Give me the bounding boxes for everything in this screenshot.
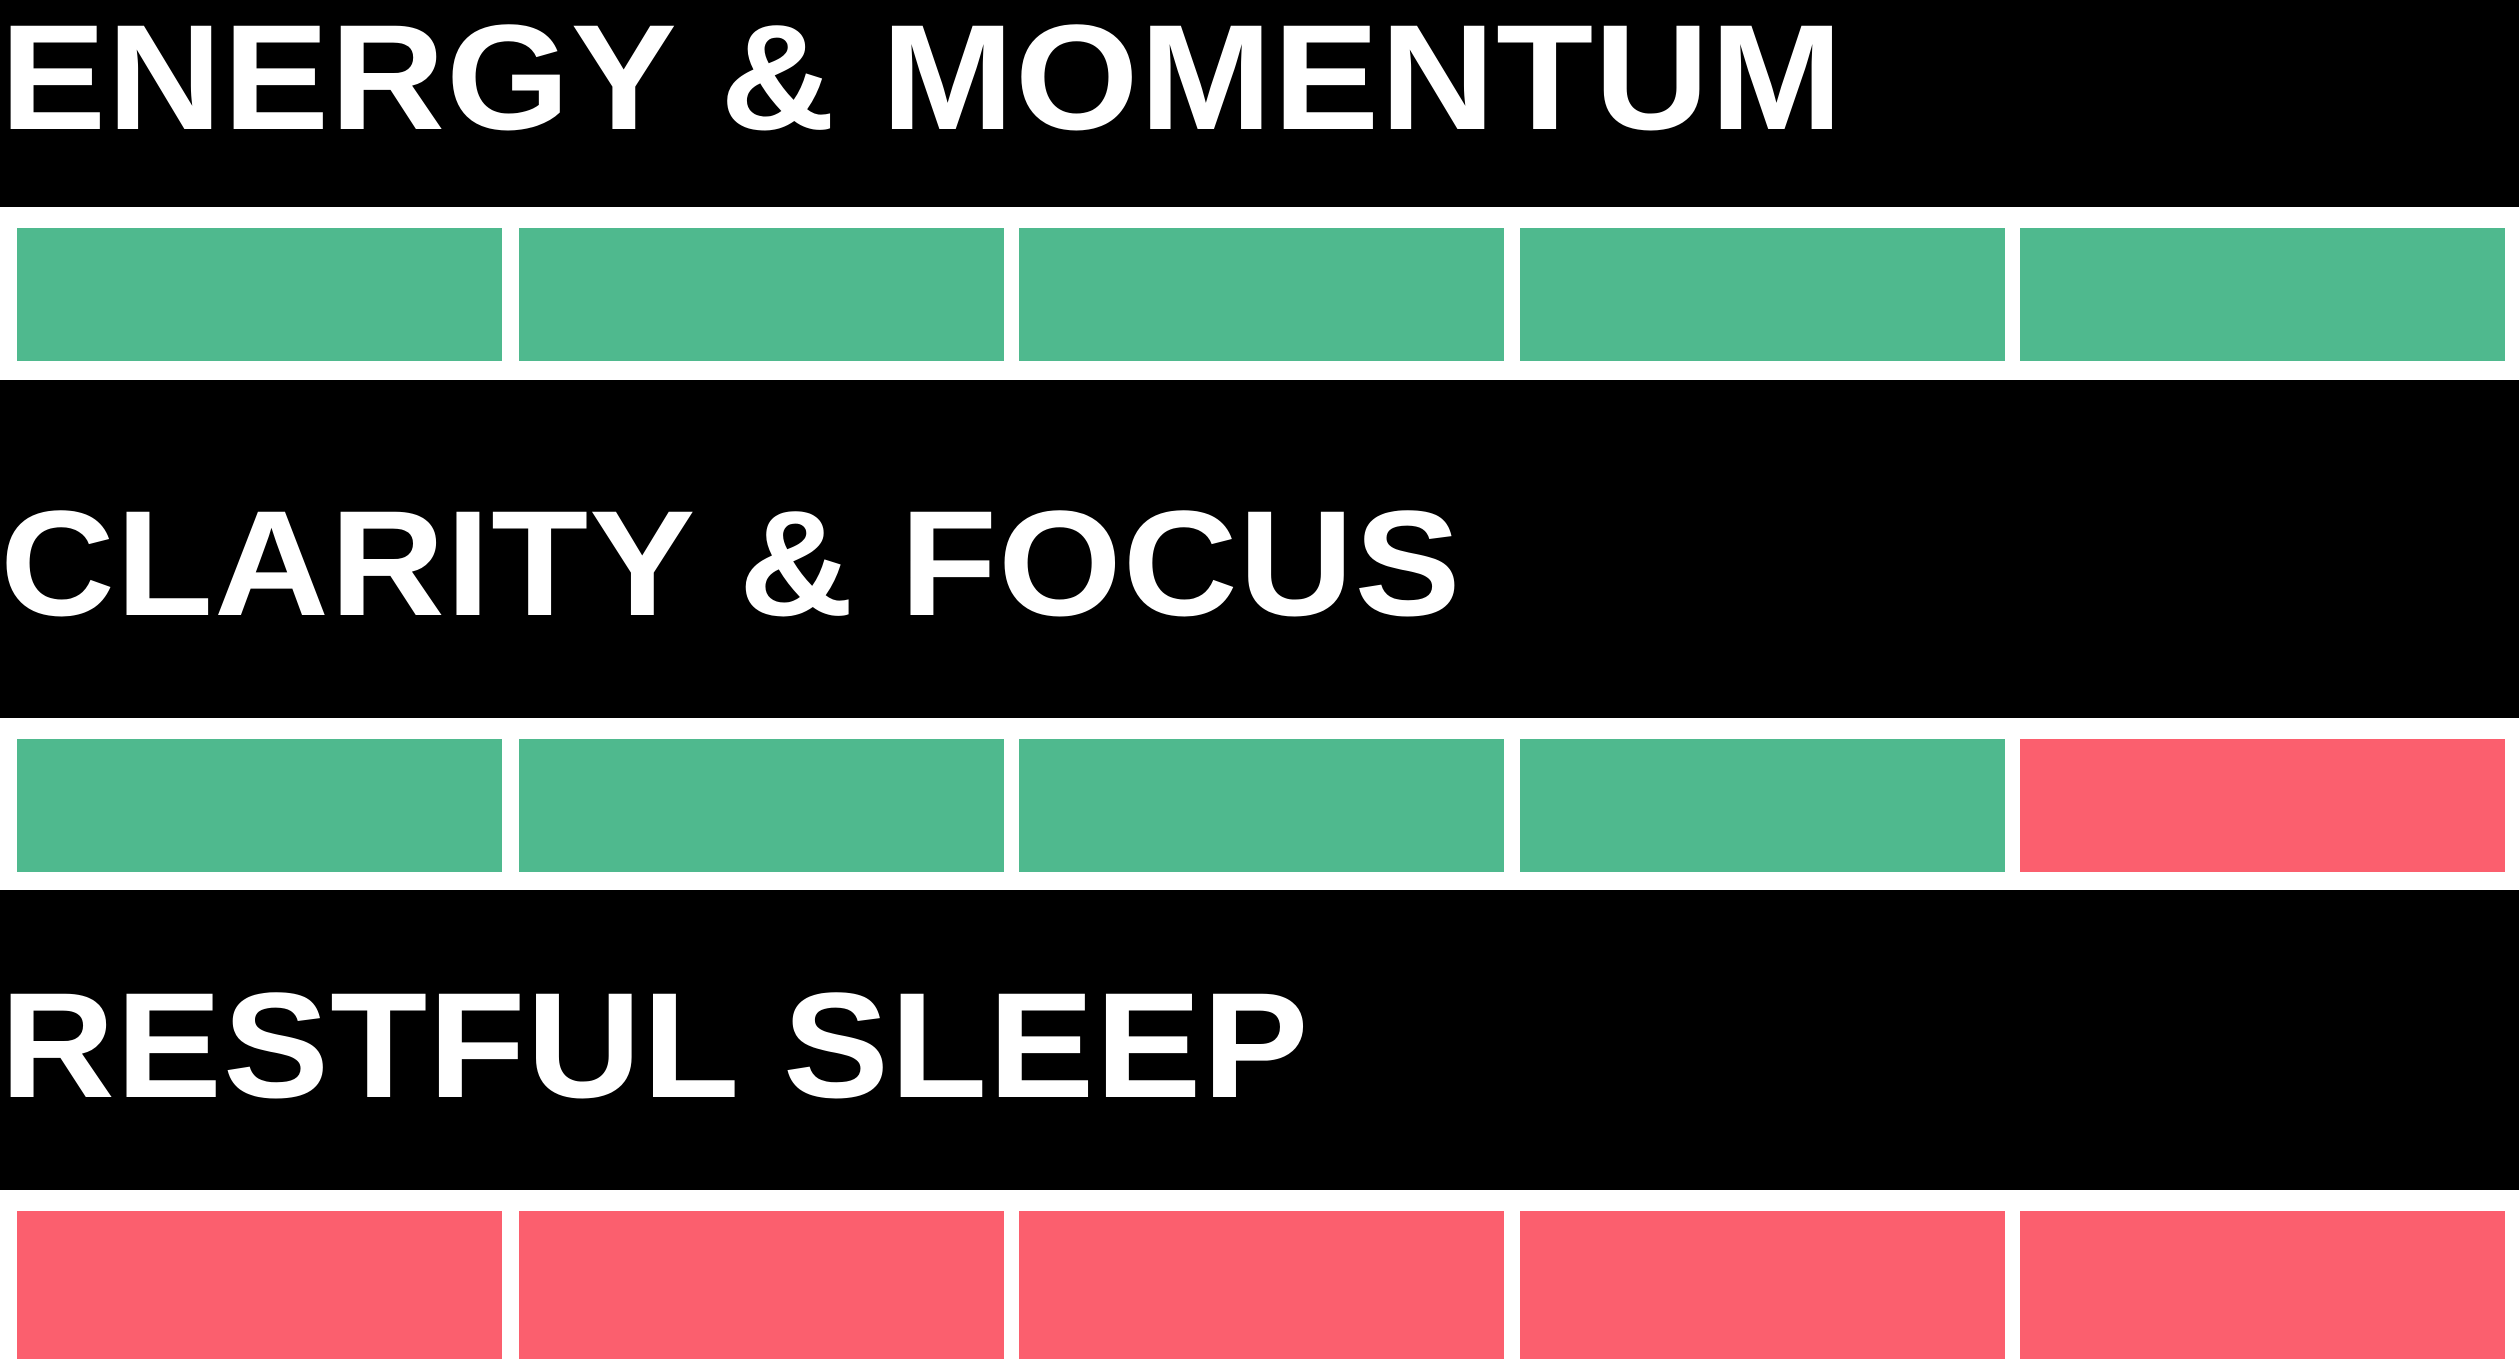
rating-segment	[17, 1211, 502, 1359]
rating-segment	[1019, 228, 1504, 361]
rating-segment	[17, 228, 502, 361]
section-title-restful-sleep: RESTFUL SLEEP	[0, 970, 2519, 1120]
rating-segment	[17, 739, 502, 872]
rating-segment	[1520, 228, 2005, 361]
benefit-rating-canvas: ENERGY & MOMENTUM CLARITY & FOCUS	[0, 0, 2519, 1359]
rating-track-restful-sleep	[0, 1190, 2519, 1359]
rating-segment	[1019, 1211, 1504, 1359]
rating-track-clarity-and-focus	[0, 718, 2519, 890]
rating-segment	[519, 1211, 1004, 1359]
rating-segment	[2020, 1211, 2505, 1359]
rating-band-restful-sleep	[0, 1190, 2519, 1359]
rating-band-energy-and-momentum	[0, 207, 2519, 380]
rating-segment	[1019, 739, 1504, 872]
rating-segment	[519, 228, 1004, 361]
benefit-section-clarity-and-focus: CLARITY & FOCUS	[0, 420, 2519, 900]
rating-track-energy-and-momentum	[0, 207, 2519, 380]
section-title-energy-and-momentum: ENERGY & MOMENTUM	[0, 2, 2519, 152]
rating-segment	[1520, 1211, 2005, 1359]
benefit-section-energy-and-momentum: ENERGY & MOMENTUM	[0, 0, 2519, 420]
rating-band-clarity-and-focus	[0, 718, 2519, 890]
benefit-section-restful-sleep: RESTFUL SLEEP	[0, 900, 2519, 1359]
rating-segment	[1520, 739, 2005, 872]
rating-segment	[2020, 739, 2505, 872]
section-title-clarity-and-focus: CLARITY & FOCUS	[0, 488, 2519, 638]
rating-segment	[519, 739, 1004, 872]
rating-segment	[2020, 228, 2505, 361]
